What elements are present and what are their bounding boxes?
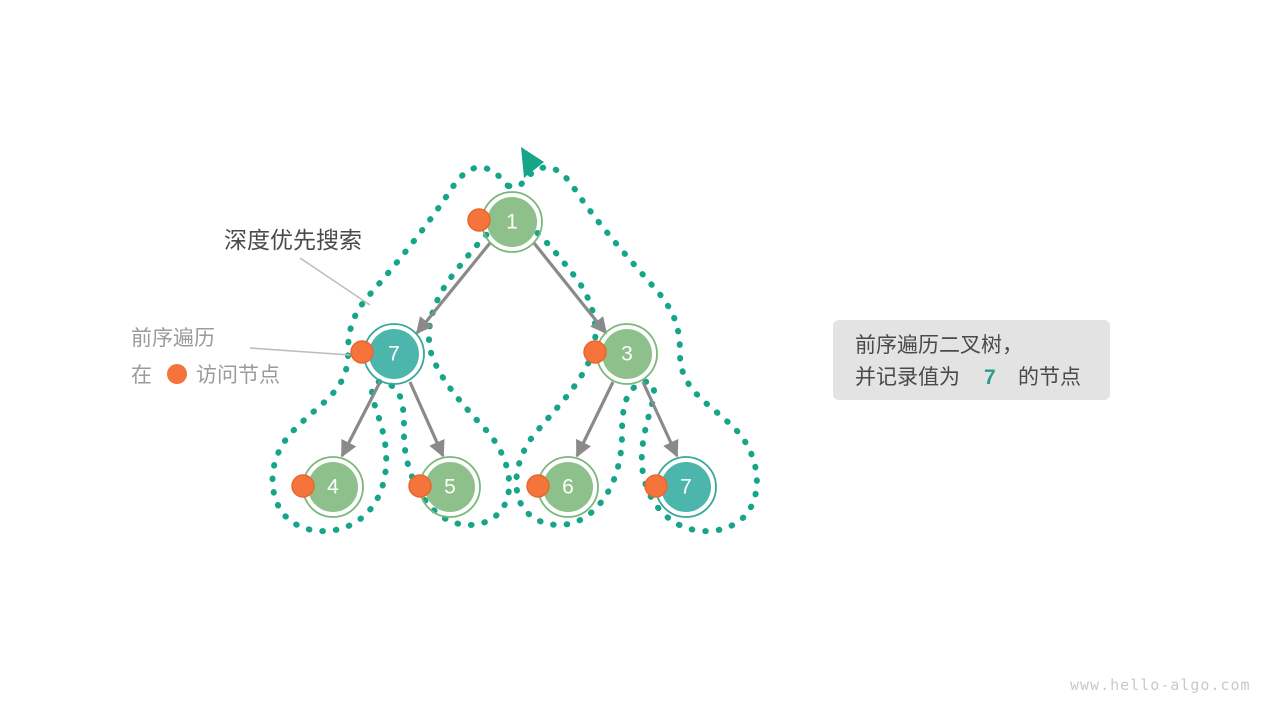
- edge-n2-n4: [342, 382, 380, 456]
- node-value: 5: [444, 476, 456, 499]
- node-value: 1: [506, 211, 518, 234]
- callout-highlight-value: 7: [984, 366, 996, 389]
- visit-dot-icon: [409, 475, 431, 497]
- node-value: 3: [621, 343, 633, 366]
- visit-dot-icon: [292, 475, 314, 497]
- visit-note-prefix: 在: [131, 364, 152, 387]
- edge-n2-n5: [410, 382, 443, 456]
- dfs-annotation-label: 深度优先搜索: [224, 227, 362, 253]
- callout-box: 前序遍历二叉树， 并记录值为 7 的节点: [833, 320, 1110, 400]
- watermark: www.hello-algo.com: [1070, 676, 1251, 694]
- node-value: 6: [562, 476, 574, 499]
- leader-line-preorder: [250, 348, 350, 355]
- visit-dot-icon: [645, 475, 667, 497]
- edge-n1-n3: [534, 243, 606, 333]
- dfs-preorder-diagram: 1 7 3 4 5: [0, 0, 1280, 720]
- orange-dot-icon: [167, 364, 187, 384]
- edge-n3-n6: [577, 382, 613, 456]
- tree-node-n3[interactable]: 3: [584, 324, 657, 384]
- visit-dot-icon: [584, 341, 606, 363]
- callout-line-2-suffix: 的节点: [1018, 366, 1081, 389]
- callout-line-2-prefix: 并记录值为: [855, 366, 960, 389]
- tree-node-n4[interactable]: 4: [292, 457, 363, 517]
- edge-n1-n2: [417, 243, 490, 333]
- node-value: 7: [388, 343, 400, 366]
- node-value: 4: [327, 476, 339, 499]
- visit-dot-icon: [468, 209, 490, 231]
- tree-node-n5[interactable]: 5: [409, 457, 480, 517]
- callout-line-1: 前序遍历二叉树，: [855, 334, 1023, 357]
- node-value: 7: [680, 476, 692, 499]
- visit-dot-icon: [527, 475, 549, 497]
- visit-note-suffix: 访问节点: [196, 364, 280, 387]
- tree-node-n2[interactable]: 7: [351, 324, 424, 384]
- left-annotations: 深度优先搜索 前序遍历 在 访问节点: [131, 227, 370, 387]
- tree-node-n6[interactable]: 6: [527, 457, 598, 517]
- leader-line-dfs: [300, 258, 370, 305]
- visit-dot-icon: [351, 341, 373, 363]
- preorder-annotation-label: 前序遍历: [131, 327, 215, 350]
